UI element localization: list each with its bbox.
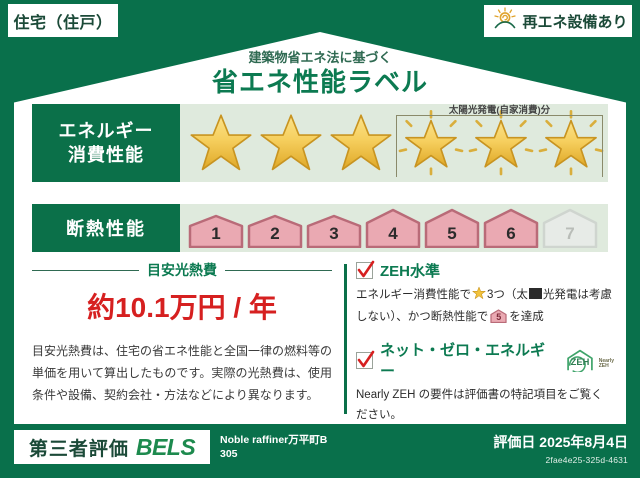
label-panel: 建築物省エネ法に基づく 省エネ性能ラベル エネルギー 消費性能 太陽光発電(自家… — [14, 32, 626, 424]
house-icon: 3 — [306, 214, 362, 248]
energy-rating-row: エネルギー 消費性能 太陽光発電(自家消費)分 — [32, 104, 608, 182]
check-icon — [356, 352, 373, 369]
column-divider — [344, 264, 347, 414]
zeh-section: ZEH水準 エネルギー消費性能で3つ（太光発電は考慮しない）、かつ断熱性能で5を… — [356, 260, 614, 438]
house-icon: 6 — [483, 208, 539, 248]
house-icon: 2 — [247, 214, 303, 248]
house-icon: 4 — [365, 208, 421, 248]
insulation-level-number: 7 — [565, 224, 574, 248]
evaluation-date-value: 2025年8月4日 — [539, 434, 628, 450]
star-icon-solar — [398, 110, 464, 176]
house-icon-inline: 5 — [490, 309, 507, 323]
star-icon-inline — [472, 291, 486, 303]
inline-house-number: 5 — [490, 310, 507, 326]
heading-rule-right — [225, 270, 332, 271]
evaluation-date: 評価日 2025年8月4日 — [493, 432, 628, 452]
building-type-chip: 住宅（住戸） — [8, 4, 118, 37]
bels-chip: 第三者評価 BELS — [14, 430, 210, 464]
evaluation-date-label: 評価日 — [493, 434, 535, 450]
evaluation-info: 評価日 2025年8月4日 2fae4e25-325d-4631 — [493, 432, 628, 465]
zeh-body-part3: を達成 — [509, 311, 544, 323]
star-icon-solar — [538, 110, 604, 176]
zeh-netzero-title: ネット・ゼロ・エネルギー — [380, 339, 551, 381]
utility-cost-value: 約10.1万円 / 年 — [32, 286, 332, 326]
insulation-level-number: 1 — [211, 224, 220, 248]
renewable-badge-label: 再エネ設備あり — [522, 11, 627, 32]
bels-logo: BELS — [136, 434, 195, 461]
property-name-line2: 305 — [220, 447, 470, 461]
sun-solar-icon — [492, 7, 518, 36]
zeh-standard-block: ZEH水準 エネルギー消費性能で3つ（太光発電は考慮しない）、かつ断熱性能で5を… — [356, 260, 614, 327]
check-icon — [356, 262, 373, 279]
svg-text:ZEH: ZEH — [570, 357, 589, 367]
star-icon — [188, 110, 254, 176]
zeh-logo-sub2: ZEH — [599, 364, 614, 369]
building-type-label: 住宅（住戸） — [13, 9, 112, 33]
zeh-netzero-block: ネット・ゼロ・エネルギー ZEH Nearly ZEH — [356, 339, 614, 425]
insulation-level-number: 5 — [447, 224, 456, 248]
third-party-label: 第三者評価 — [29, 434, 129, 461]
label-footer: 第三者評価 BELS Noble raffiner万平町B 305 評価日 20… — [0, 424, 640, 478]
insulation-level-number: 6 — [506, 224, 515, 248]
heading-rule-left — [32, 270, 139, 271]
house-icon: 1 — [188, 214, 244, 248]
utility-cost-heading-label: 目安光熱費 — [147, 260, 217, 280]
page-title: 省エネ性能ラベル — [14, 62, 626, 99]
insulation-level-number: 3 — [329, 224, 338, 248]
star-icon — [328, 110, 394, 176]
insulation-rating-row: 断熱性能 1 2 — [32, 204, 608, 252]
star-icon — [258, 110, 324, 176]
zeh-netzero-heading: ネット・ゼロ・エネルギー ZEH Nearly ZEH — [356, 339, 614, 381]
renewable-equipment-chip: 再エネ設備あり — [484, 5, 632, 37]
zeh-standard-body: エネルギー消費性能で3つ（太光発電は考慮しない）、かつ断熱性能で5を達成 — [356, 285, 614, 327]
utility-cost-heading: 目安光熱費 — [32, 260, 332, 280]
utility-cost-section: 目安光熱費 約10.1万円 / 年 目安光熱費は、住宅の省エネ性能と全国一律の燃… — [32, 260, 332, 407]
zeh-netzero-body: Nearly ZEH の要件は評価書の特記項目をご覧ください。 — [356, 385, 614, 425]
zeh-body-star-text: 3つ（太 — [487, 289, 528, 301]
property-name: Noble raffiner万平町B 305 — [220, 433, 470, 461]
evaluation-id: 2fae4e25-325d-4631 — [493, 455, 628, 465]
energy-performance-label: 住宅（住戸） 再エネ設備あり 建築物省エネ法に基づく 省エネ性能ラベル — [0, 0, 640, 478]
zeh-house-logo-icon: ZEH Nearly ZEH — [563, 348, 614, 372]
redacted-text — [529, 288, 542, 299]
property-name-line1: Noble raffiner万平町B — [220, 433, 470, 447]
energy-rating-label: エネルギー 消費性能 — [32, 104, 180, 182]
zeh-body-part1: エネルギー消費性能で — [356, 289, 471, 301]
solar-generation-note: 太陽光発電(自家消費)分 — [392, 102, 607, 116]
house-icon-inactive: 7 — [542, 208, 598, 248]
zeh-standard-heading: ZEH水準 — [356, 260, 614, 281]
insulation-level-number: 4 — [388, 224, 397, 248]
zeh-standard-title: ZEH水準 — [380, 260, 440, 281]
house-icon: 5 — [424, 208, 480, 248]
insulation-level-number: 2 — [270, 224, 279, 248]
insulation-level-scale: 1 2 3 — [188, 204, 604, 252]
insulation-rating-label: 断熱性能 — [32, 204, 180, 252]
utility-cost-note: 目安光熱費は、住宅の省エネ性能と全国一律の燃料等の単価を用いて算出したものです。… — [32, 340, 332, 407]
star-icon-solar — [468, 110, 534, 176]
